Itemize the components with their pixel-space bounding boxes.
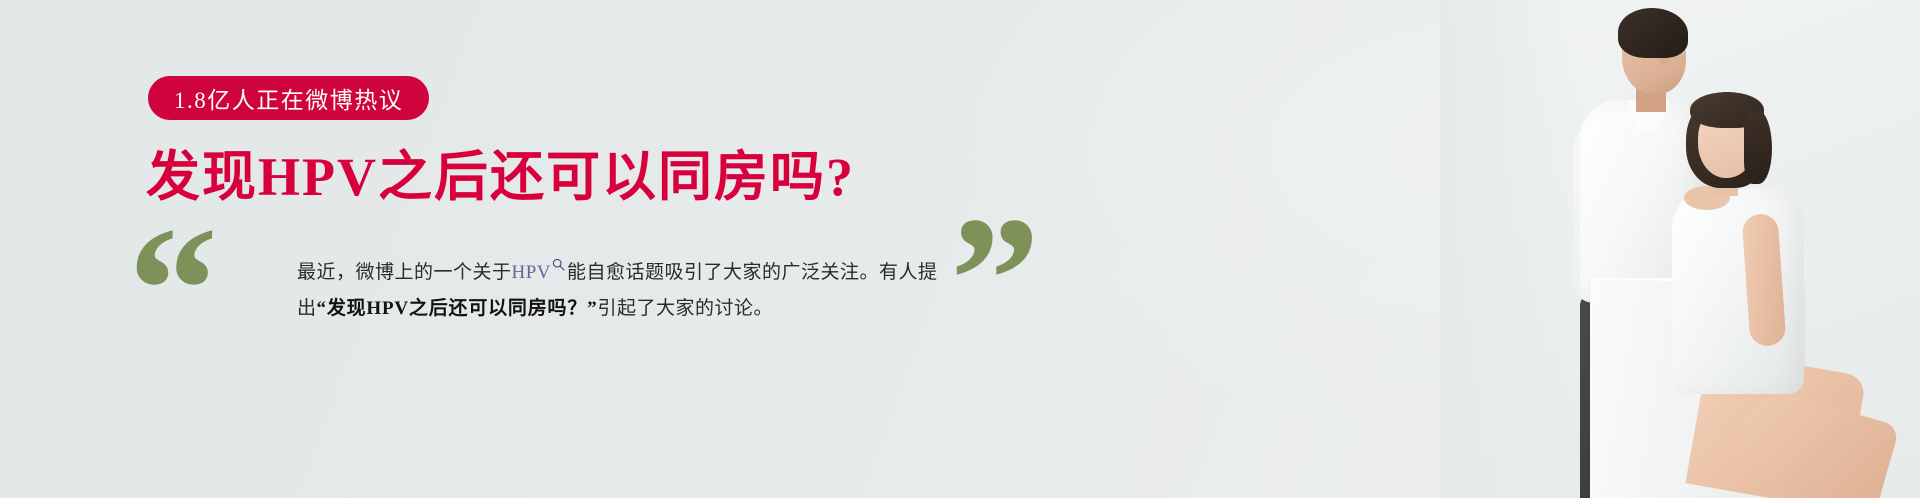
quote-close-mark: ” [587,298,597,319]
search-icon[interactable] [552,258,565,271]
body-paragraph: 最近，微博上的一个关于HPV能自愈话题吸引了大家的广泛关注。有人提出“发现HPV… [297,255,942,327]
quote-open-mark: “ [317,298,327,319]
hpv-keyword: HPV [512,262,552,283]
woman-dress [1672,188,1804,394]
couple-photo [1440,0,1920,498]
quoted-question: 发现HPV之后还可以同房吗？ [327,298,587,319]
quote-open-icon: “ [128,200,218,380]
photo-left-fade [1440,0,1580,498]
body-segment-1: 最近，微博上的一个关于 [297,262,512,283]
quote-close-icon: ” [950,190,1040,370]
woman-hair-side [1744,110,1772,184]
man-hair [1618,8,1688,58]
hot-topic-badge-label: 1.8亿人正在微博热议 [174,81,403,115]
body-segment-3: 引起了大家的讨论。 [597,298,773,319]
promo-banner: “ ” 1.8亿人正在微博热议 发现HPV之后还可以同房吗? 最近，微博上的一个… [0,0,1920,498]
page-title: 发现HPV之后还可以同房吗? [146,132,855,211]
hot-topic-badge: 1.8亿人正在微博热议 [148,76,429,120]
